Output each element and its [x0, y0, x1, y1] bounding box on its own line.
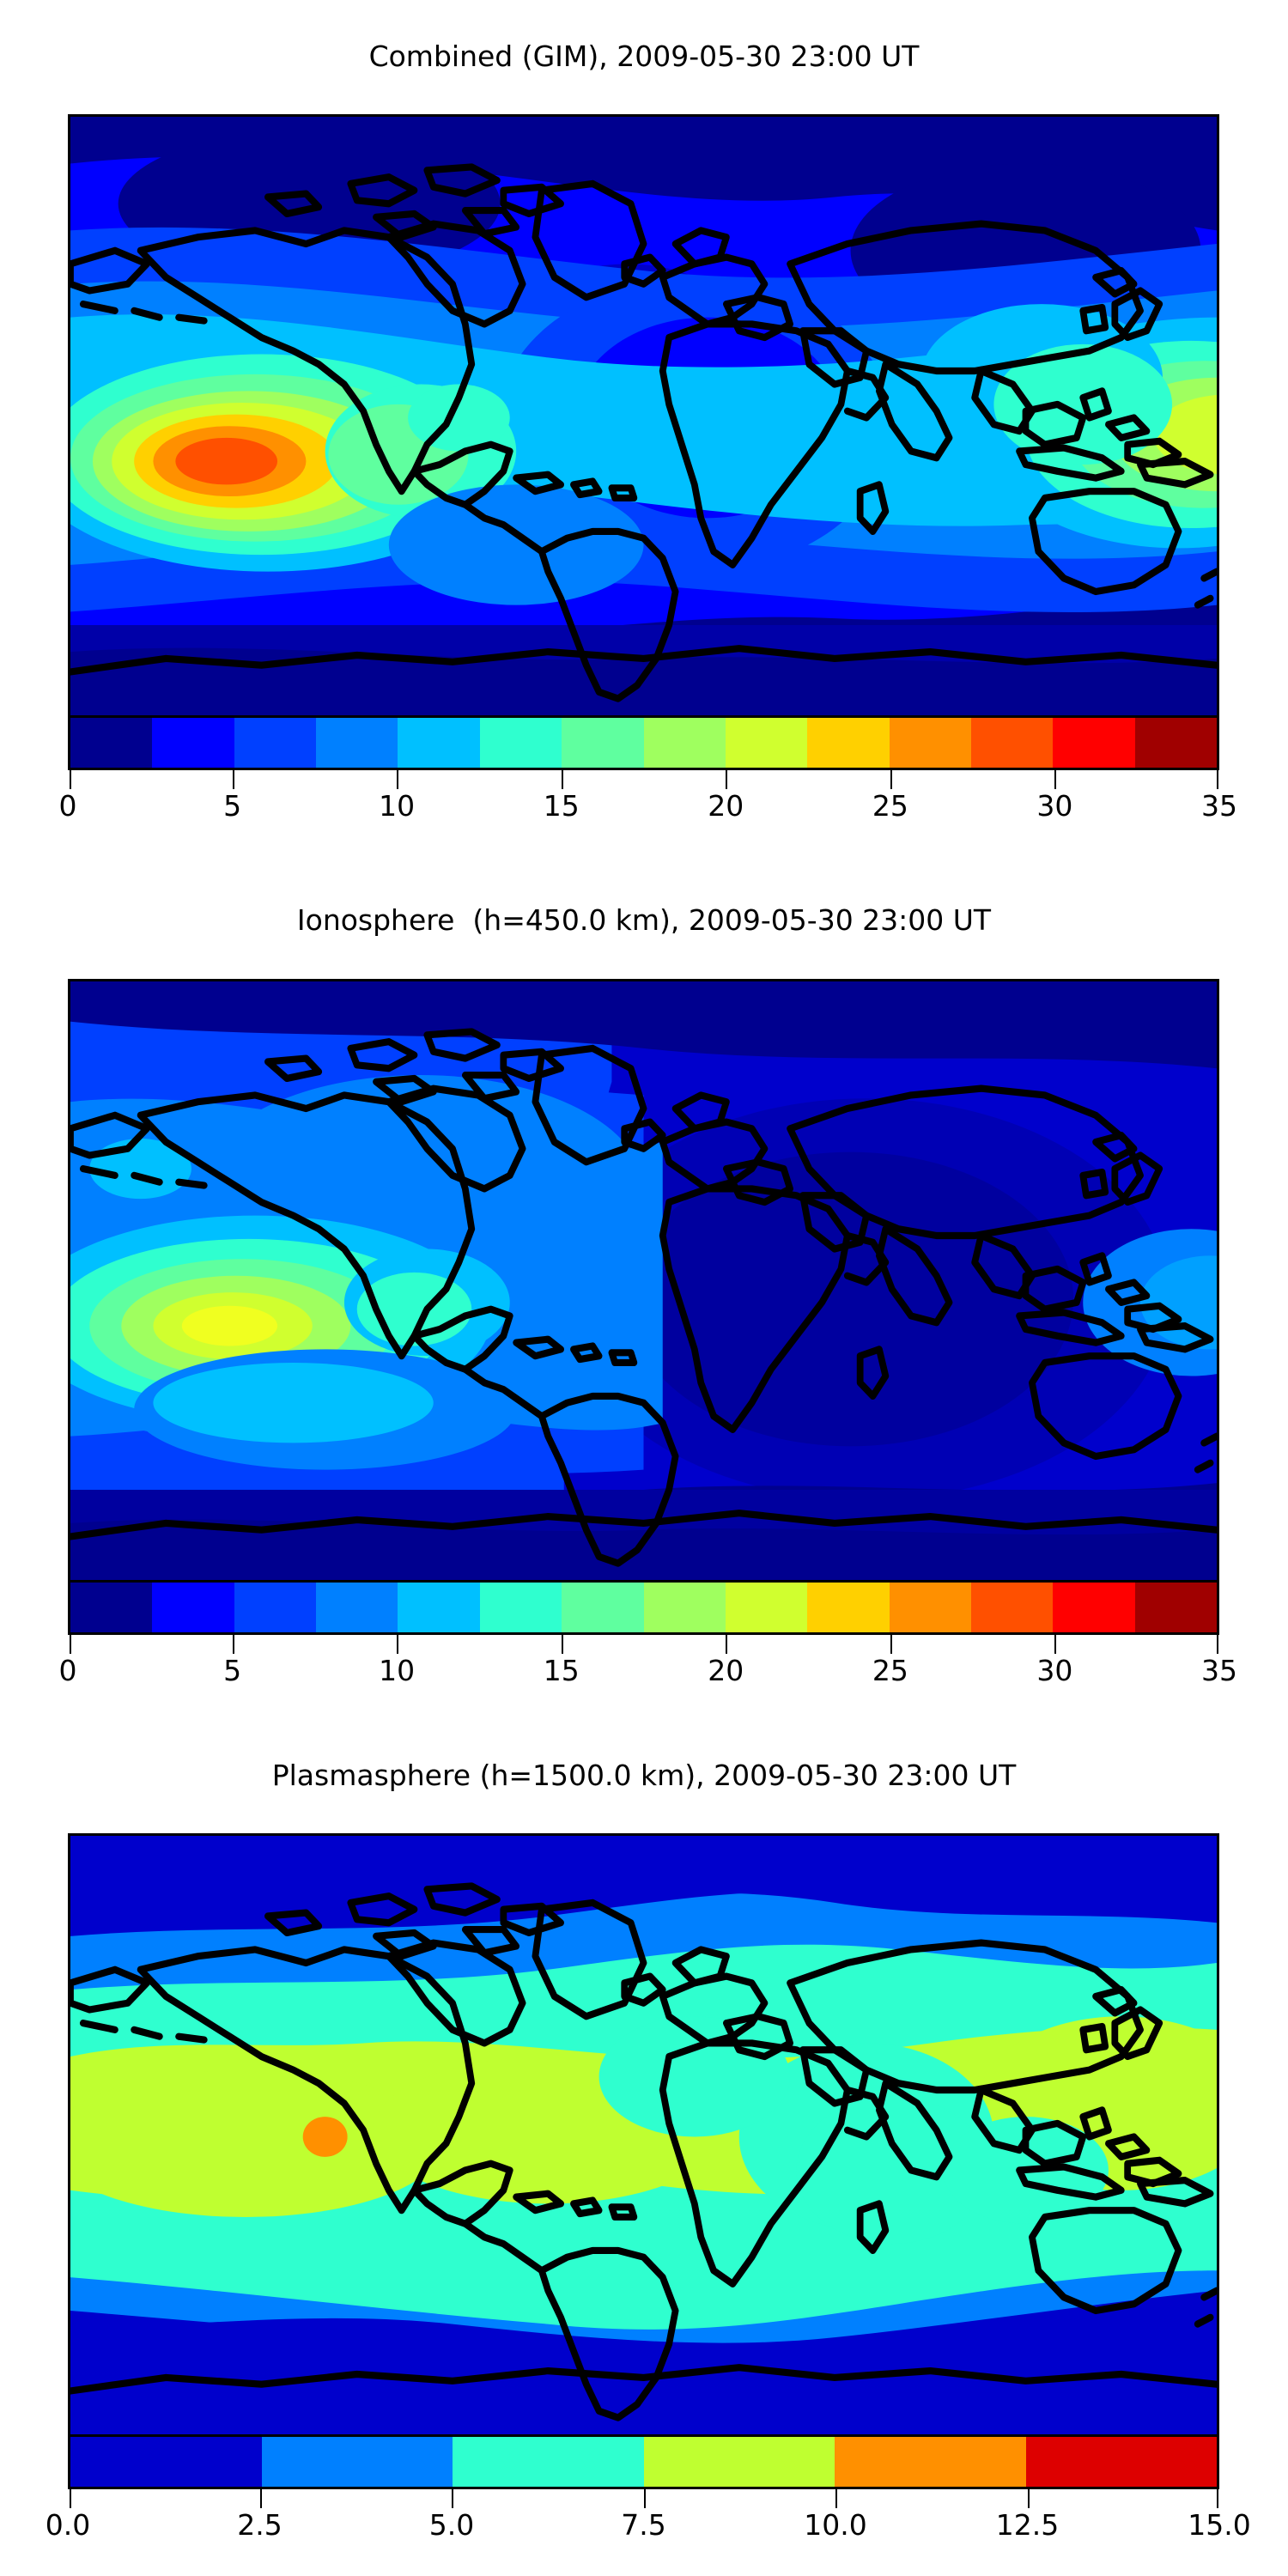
colorbar-segment-1	[152, 718, 234, 768]
colorbar-segment-8	[726, 1583, 807, 1632]
colorbar-tick-label-1: 5	[223, 1654, 241, 1687]
colorbar-tick-label-6: 30	[1036, 789, 1072, 823]
colorbar-tick-label-2: 10	[379, 789, 415, 823]
colorbar-band-plasmasphere	[68, 2434, 1219, 2489]
colorbar-tick-label-7: 35	[1201, 789, 1237, 823]
colorbar-tick-4	[726, 770, 727, 789]
colorbar-segment-3	[316, 1583, 398, 1632]
colorbar-tick-6	[1217, 2489, 1218, 2508]
map-combined-gim	[68, 114, 1219, 721]
colorbar-segment-4	[398, 718, 479, 768]
tec-map-figure: Combined (GIM), 2009-05-30 23:00 UT	[0, 0, 1288, 2576]
colorbar-segment-6	[562, 1583, 643, 1632]
colorbar-tick-1	[233, 770, 234, 789]
colorbar-segment-12	[1053, 718, 1134, 768]
colorbar-tick-label-4: 20	[708, 789, 744, 823]
colorbar-segment-13	[1135, 718, 1217, 768]
colorbar-segment-9	[807, 718, 889, 768]
colorbar-segment-4	[835, 2437, 1026, 2487]
colorbar-tick-label-0: 0.0	[46, 2508, 90, 2542]
colorbar-segment-7	[644, 718, 726, 768]
colorbar-segment-5	[480, 1583, 562, 1632]
colorbar-tick-5	[890, 770, 892, 789]
contour-fill-ionosphere	[70, 981, 1217, 1583]
colorbar-segment-9	[807, 1583, 889, 1632]
panel-plasmasphere: Plasmasphere (h=1500.0 km), 2009-05-30 2…	[0, 1735, 1288, 2576]
map-plasmasphere	[68, 1833, 1219, 2440]
panel-title-plasmasphere: Plasmasphere (h=1500.0 km), 2009-05-30 2…	[0, 1759, 1288, 1792]
colorbar-band-ionosphere	[68, 1580, 1219, 1635]
colorbar-tick-label-6: 15.0	[1188, 2508, 1250, 2542]
colorbar-segment-13	[1135, 1583, 1217, 1632]
colorbar-tick-2	[397, 1635, 398, 1654]
colorbar-ionosphere: 05101520253035	[68, 1580, 1219, 1700]
colorbar-tick-label-2: 5.0	[429, 2508, 474, 2542]
map-svg-plasmasphere	[70, 1836, 1217, 2438]
colorbar-segment-1	[152, 1583, 234, 1632]
colorbar-tick-label-5: 25	[872, 1654, 908, 1687]
colorbar-segment-11	[971, 1583, 1053, 1632]
colorbar-tick-0	[70, 770, 71, 789]
colorbar-segment-3	[644, 2437, 835, 2487]
colorbar-labels-combined: 05101520253035	[68, 789, 1219, 832]
colorbar-segment-7	[644, 1583, 726, 1632]
panel-title-combined-gim: Combined (GIM), 2009-05-30 23:00 UT	[0, 39, 1288, 73]
colorbar-tick-label-6: 30	[1036, 1654, 1072, 1687]
colorbar-segment-10	[890, 718, 971, 768]
contour-fill-combined	[70, 117, 1217, 719]
map-svg-ionosphere	[70, 981, 1217, 1583]
colorbar-tick-4	[835, 2489, 837, 2508]
panel-title-ionosphere: Ionosphere (h=450.0 km), 2009-05-30 23:0…	[0, 903, 1288, 937]
colorbar-segment-0	[70, 2437, 262, 2487]
colorbar-segment-8	[726, 718, 807, 768]
colorbar-tick-6	[1054, 770, 1056, 789]
map-ionosphere	[68, 979, 1219, 1586]
colorbar-segment-5	[1026, 2437, 1218, 2487]
colorbar-tick-label-2: 10	[379, 1654, 415, 1687]
colorbar-tick-6	[1054, 1635, 1056, 1654]
colorbar-segment-4	[398, 1583, 479, 1632]
colorbar-tick-3	[562, 770, 563, 789]
panel-ionosphere: Ionosphere (h=450.0 km), 2009-05-30 23:0…	[0, 859, 1288, 1735]
colorbar-plasmasphere: 0.02.55.07.510.012.515.0	[68, 2434, 1219, 2555]
colorbar-segment-2	[453, 2437, 644, 2487]
colorbar-tick-label-4: 10.0	[804, 2508, 866, 2542]
colorbar-segment-1	[262, 2437, 453, 2487]
colorbar-tick-label-3: 15	[544, 1654, 580, 1687]
colorbar-tick-5	[890, 1635, 892, 1654]
colorbar-tick-1	[260, 2489, 262, 2508]
colorbar-tick-label-0: 0	[59, 1654, 77, 1687]
contour-fill-plasmasphere	[70, 1836, 1217, 2438]
colorbar-labels-ionosphere: 05101520253035	[68, 1654, 1219, 1697]
colorbar-segment-5	[480, 718, 562, 768]
colorbar-tick-label-4: 20	[708, 1654, 744, 1687]
colorbar-tick-label-3: 7.5	[621, 2508, 665, 2542]
colorbar-tick-label-7: 35	[1201, 1654, 1237, 1687]
colorbar-segment-6	[562, 718, 643, 768]
colorbar-tick-label-5: 25	[872, 789, 908, 823]
panel-combined-gim: Combined (GIM), 2009-05-30 23:00 UT	[0, 0, 1288, 859]
colorbar-tick-7	[1217, 1635, 1218, 1654]
colorbar-tick-4	[726, 1635, 727, 1654]
colorbar-tick-label-1: 2.5	[237, 2508, 282, 2542]
colorbar-tick-label-0: 0	[59, 789, 77, 823]
colorbar-segment-2	[234, 718, 316, 768]
colorbar-segment-2	[234, 1583, 316, 1632]
colorbar-segment-3	[316, 718, 398, 768]
colorbar-segment-12	[1053, 1583, 1134, 1632]
colorbar-segment-11	[971, 718, 1053, 768]
colorbar-ticks-combined	[68, 770, 1219, 789]
colorbar-tick-3	[562, 1635, 563, 1654]
colorbar-tick-0	[70, 2489, 71, 2508]
colorbar-tick-0	[70, 1635, 71, 1654]
colorbar-ticks-plasmasphere	[68, 2489, 1219, 2508]
colorbar-labels-plasmasphere: 0.02.55.07.510.012.515.0	[68, 2508, 1219, 2551]
colorbar-segment-0	[70, 1583, 152, 1632]
colorbar-tick-1	[233, 1635, 234, 1654]
colorbar-ticks-ionosphere	[68, 1635, 1219, 1654]
colorbar-tick-7	[1217, 770, 1218, 789]
colorbar-tick-3	[644, 2489, 646, 2508]
colorbar-tick-2	[452, 2489, 453, 2508]
colorbar-combined-gim: 05101520253035	[68, 715, 1219, 835]
map-svg-combined-gim	[70, 117, 1217, 719]
colorbar-tick-label-3: 15	[544, 789, 580, 823]
colorbar-segment-10	[890, 1583, 971, 1632]
colorbar-band-combined	[68, 715, 1219, 770]
colorbar-segment-0	[70, 718, 152, 768]
colorbar-tick-2	[397, 770, 398, 789]
colorbar-tick-label-5: 12.5	[996, 2508, 1059, 2542]
colorbar-tick-label-1: 5	[223, 789, 241, 823]
colorbar-tick-5	[1028, 2489, 1030, 2508]
